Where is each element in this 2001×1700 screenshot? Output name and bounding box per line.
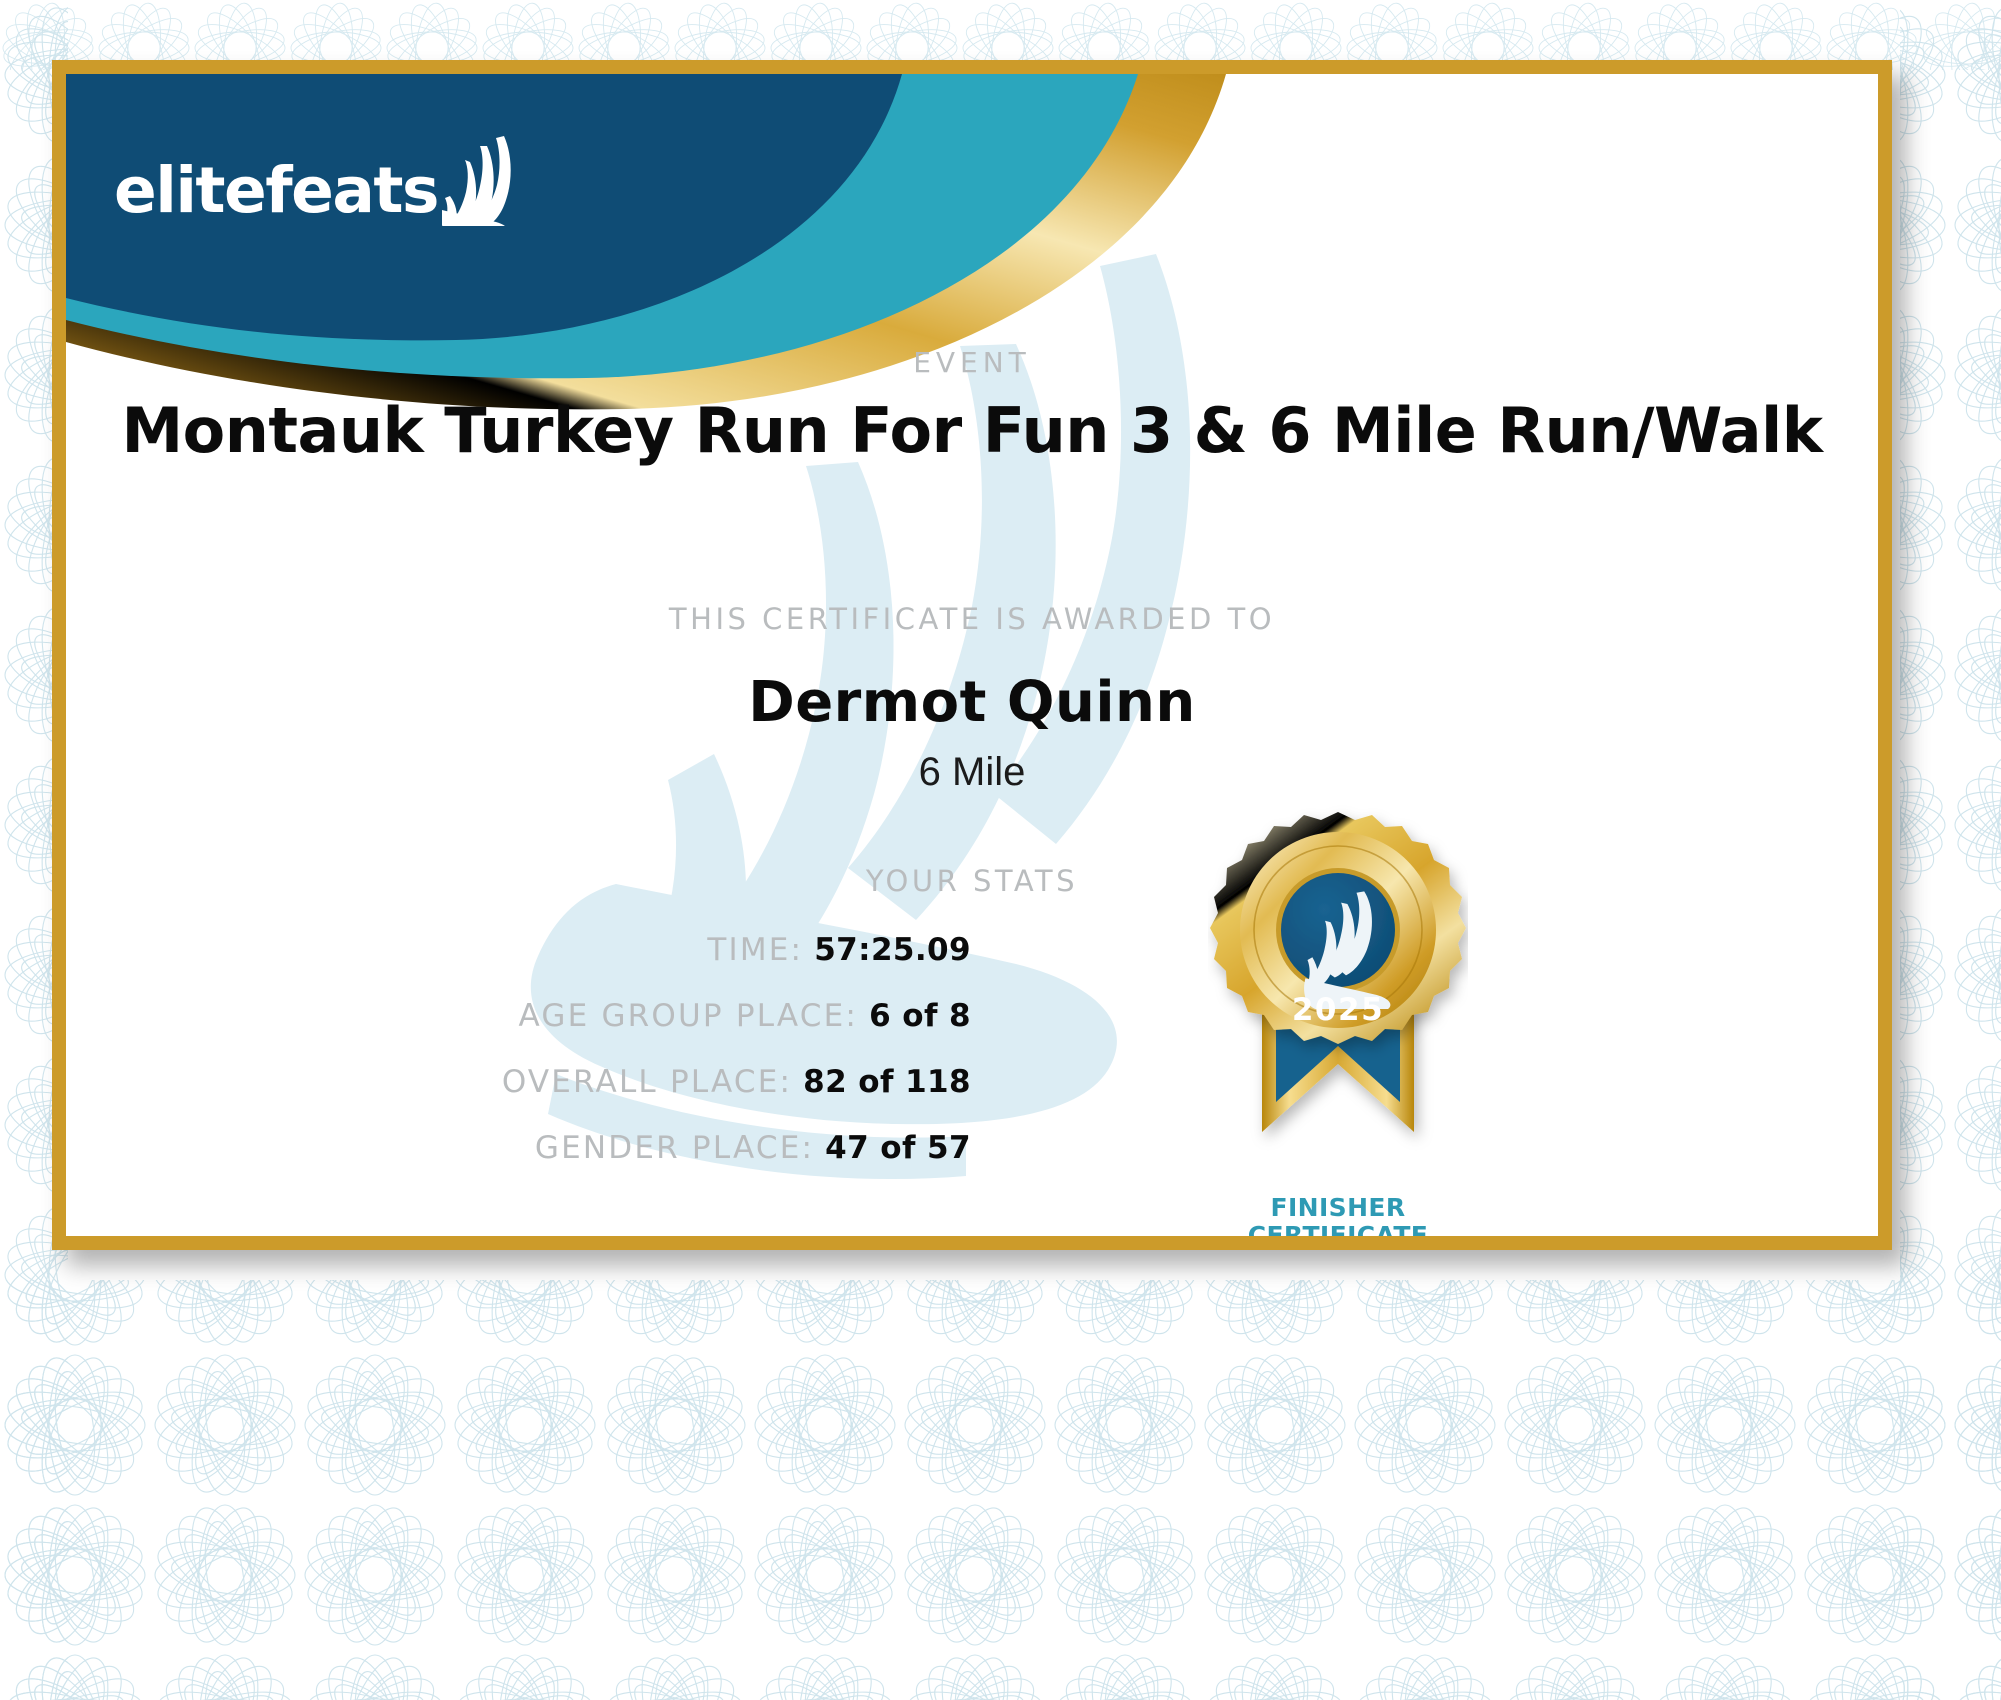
stat-label: AGE GROUP PLACE: [519, 998, 859, 1034]
stat-label: OVERALL PLACE: [502, 1064, 792, 1100]
stat-row-overall-place: OVERALL PLACE: 82 of 118 [66, 1064, 971, 1100]
seal-caption-line2: CERTIFICATE [1208, 1222, 1468, 1250]
medal-graphic: 2025 [1208, 802, 1468, 1202]
stats-list: TIME: 57:25.09 AGE GROUP PLACE: 6 of 8 O… [66, 932, 971, 1196]
event-distance: 6 Mile [66, 750, 1878, 795]
recipient-name: Dermot Quinn [66, 670, 1878, 735]
elitefeats-logo: elitefeats [114, 134, 520, 222]
seal-year: 2025 [1292, 992, 1384, 1028]
brand-wordmark: elitefeats [114, 159, 438, 222]
certificate-body: EVENT Montauk Turkey Run For Fun 3 & 6 M… [66, 74, 1878, 1236]
finisher-medal-seal: 2025 FINISHER CERTIFICATE [1208, 802, 1468, 1232]
stat-row-age-group-place: AGE GROUP PLACE: 6 of 8 [66, 998, 971, 1034]
stat-label: GENDER PLACE: [535, 1130, 814, 1166]
stat-value: 47 of 57 [825, 1130, 971, 1166]
stat-value: 57:25.09 [814, 932, 971, 968]
awarded-to-label: THIS CERTIFICATE IS AWARDED TO [66, 602, 1878, 636]
winged-foot-icon [442, 134, 520, 226]
event-label: EVENT [66, 346, 1878, 379]
your-stats-label: YOUR STATS [66, 864, 1878, 898]
event-title: Montauk Turkey Run For Fun 3 & 6 Mile Ru… [66, 394, 1878, 467]
stat-row-gender-place: GENDER PLACE: 47 of 57 [66, 1130, 971, 1166]
stat-value: 6 of 8 [869, 998, 971, 1034]
stat-row-time: TIME: 57:25.09 [66, 932, 971, 968]
stat-value: 82 of 118 [803, 1064, 971, 1100]
seal-caption: FINISHER CERTIFICATE [1208, 1194, 1468, 1250]
certificate-card: elitefeats EVENT Montauk Turkey Run For … [52, 60, 1892, 1250]
seal-caption-line1: FINISHER [1208, 1194, 1468, 1222]
stat-label: TIME: [707, 932, 803, 968]
